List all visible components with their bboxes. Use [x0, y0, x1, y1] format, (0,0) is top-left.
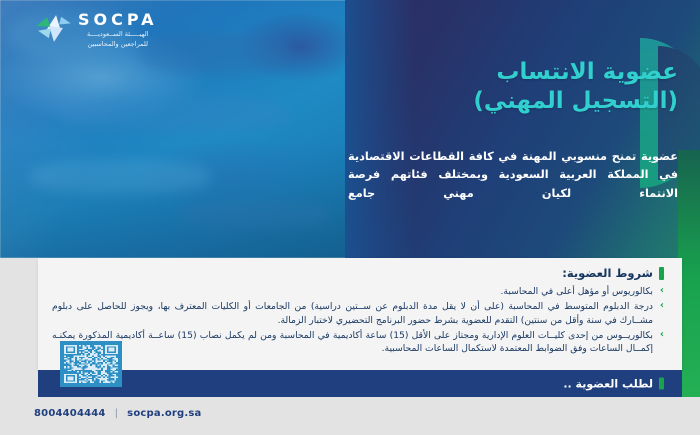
- conditions-heading-label: شروط العضوية:: [562, 266, 653, 280]
- logo-arabic-line-1: الهيـــــئة الســعوديــــة: [78, 30, 158, 38]
- socpa-logo: SOCPA الهيـــــئة الســعوديــــة للمراجع…: [36, 12, 158, 48]
- conditions-list: بكالوريوس أو مؤهل أعلى في المحاسبة. درجة…: [52, 285, 664, 356]
- photo-blur-shape: [180, 200, 330, 230]
- hero-description: عضوية تمنح منسوبي المهنة في كافة القطاعا…: [348, 148, 678, 203]
- logo-text-block: SOCPA الهيـــــئة الســعوديــــة للمراجع…: [78, 12, 158, 48]
- list-item: بكالوريوس أو مؤهل أعلى في المحاسبة.: [52, 285, 664, 298]
- page-title-line-1: عضوية الانتساب: [258, 58, 678, 87]
- footer: 8004404444 | socpa.org.sa: [0, 397, 700, 435]
- page-title-line-2: (التسجيل المهني): [258, 87, 678, 116]
- page-title: عضوية الانتساب (التسجيل المهني): [258, 58, 678, 116]
- list-item: بكالوريــوس من إحدى كليــات العلوم الإدا…: [52, 329, 664, 356]
- qr-code[interactable]: [60, 341, 122, 387]
- qr-code-image: [64, 345, 118, 383]
- footer-separator: |: [115, 408, 119, 419]
- conditions-card: شروط العضوية: بكالوريوس أو مؤهل أعلى في …: [38, 258, 682, 370]
- cta-bar: لطلب العضوية ..: [38, 370, 682, 397]
- star-burst-icon: [36, 15, 72, 45]
- conditions-heading: شروط العضوية:: [52, 266, 664, 280]
- footer-website[interactable]: socpa.org.sa: [127, 408, 201, 419]
- poster: SOCPA الهيـــــئة الســعوديــــة للمراجع…: [0, 0, 700, 435]
- cta-label-group: لطلب العضوية ..: [563, 377, 664, 390]
- green-bar-icon: [659, 378, 664, 390]
- list-item: درجة الدبلوم المتوسط في المحاسبة (على أن…: [52, 300, 664, 327]
- photo-blur-shape: [30, 160, 210, 194]
- logo-arabic-line-2: للمراجعين والمحاسبين: [78, 40, 158, 48]
- footer-phone[interactable]: 8004404444: [34, 408, 106, 419]
- green-bar-icon: [659, 267, 664, 280]
- cta-label: لطلب العضوية ..: [563, 377, 653, 390]
- photo-blur-shape: [60, 96, 290, 132]
- hero-gradient-panel: [345, 0, 700, 258]
- logo-wordmark: SOCPA: [78, 12, 158, 28]
